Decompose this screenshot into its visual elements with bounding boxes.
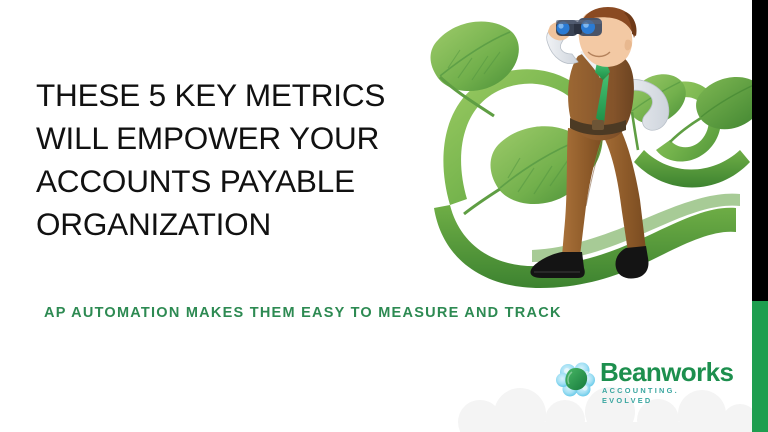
slide-subtitle: AP AUTOMATION MAKES THEM EASY TO MEASURE… [44,305,562,321]
beanworks-logo: Beanworks ACCOUNTING. EVOLVED [556,357,732,403]
logo-tagline: ACCOUNTING. EVOLVED [602,386,732,406]
title-line-3: ACCOUNTS PAYABLE [36,160,436,203]
binoculars [556,18,602,36]
presentation-slide: THESE 5 KEY METRICS WILL EMPOWER YOUR AC… [0,0,768,432]
page-title: THESE 5 KEY METRICS WILL EMPOWER YOUR AC… [36,74,436,246]
right-edge-bar-black [752,0,768,301]
logo-wordmark: Beanworks [600,357,733,387]
title-line-4: ORGANIZATION [36,203,436,246]
hero-illustration [420,0,768,300]
title-line-1: THESE 5 KEY METRICS [36,74,436,117]
title-line-2: WILL EMPOWER YOUR [36,117,436,160]
right-edge-bar-green [752,301,768,432]
leaf-top-left [431,22,519,116]
beanworks-cloud-bean-logo-icon [556,359,596,399]
